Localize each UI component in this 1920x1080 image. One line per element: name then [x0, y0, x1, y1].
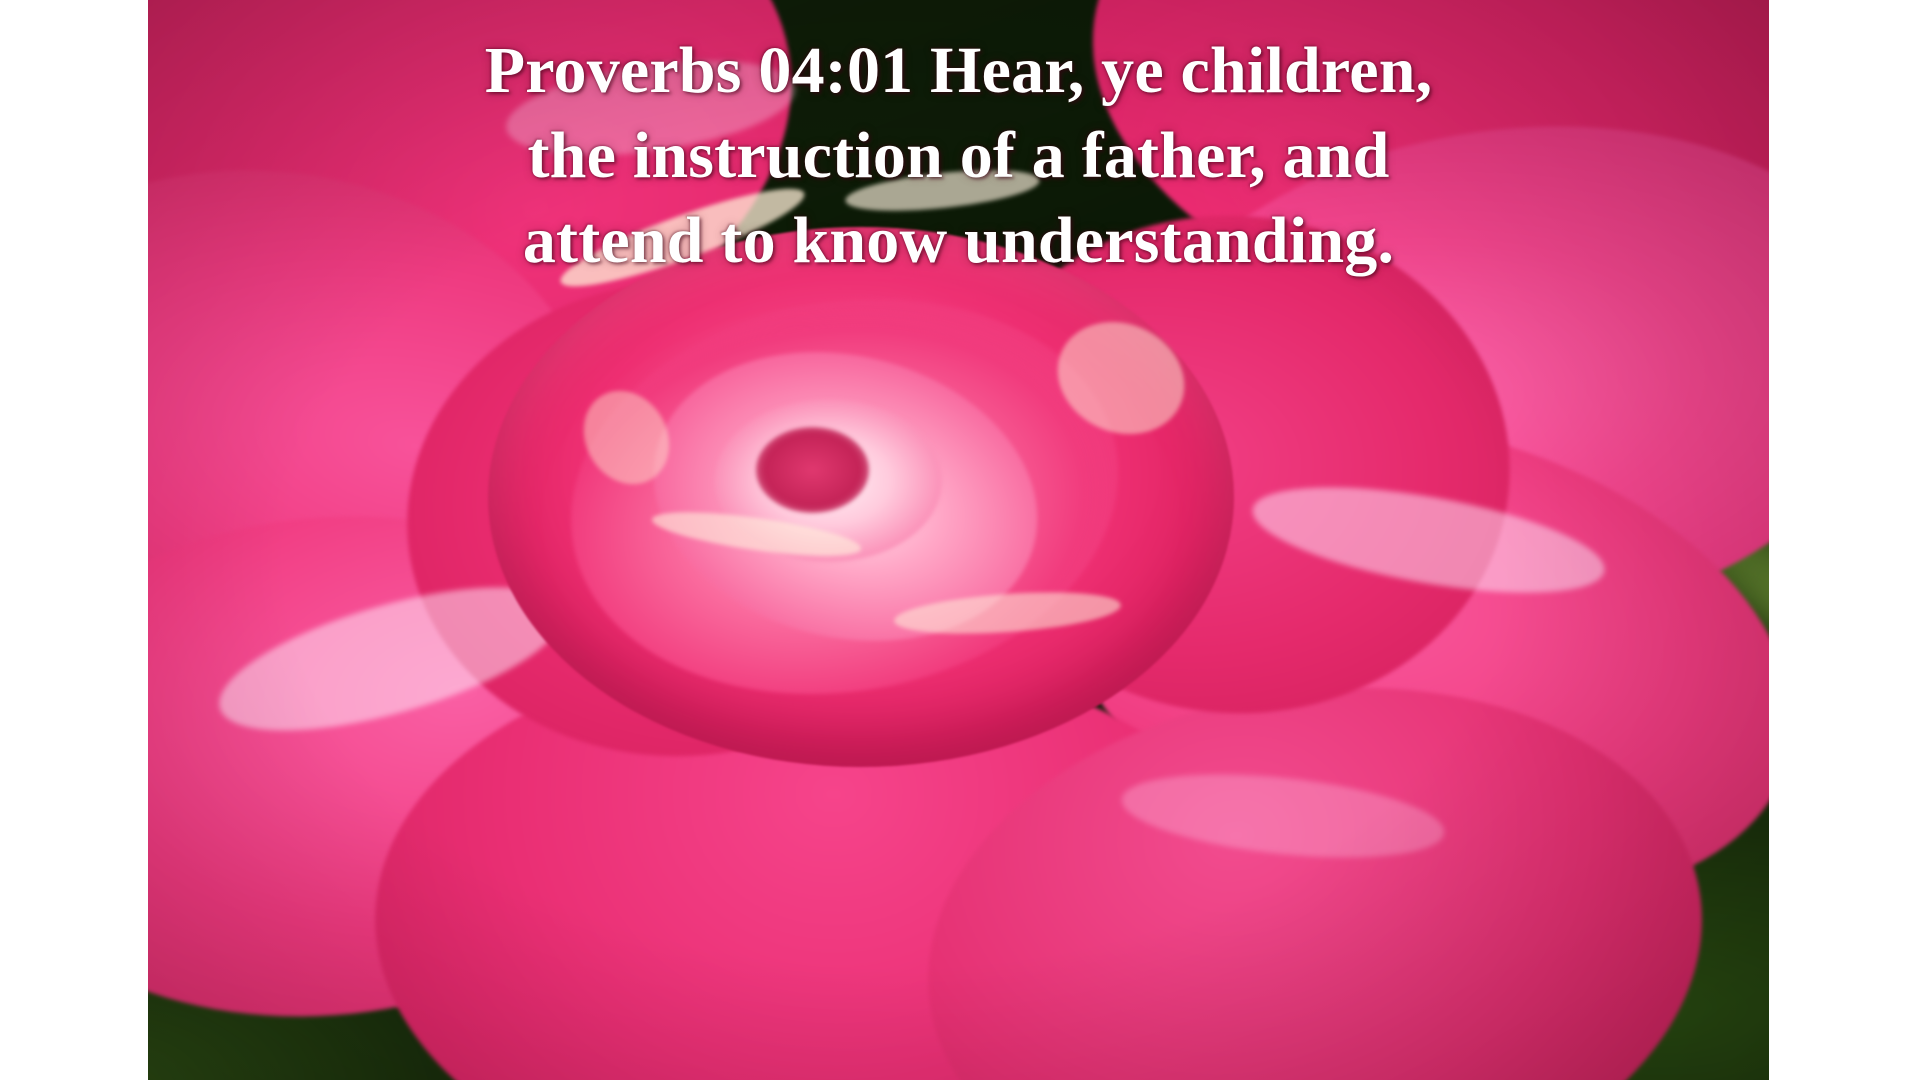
- letterbox-right: [1769, 0, 1920, 1080]
- verse-line-2: the instruction of a father, and: [188, 113, 1729, 198]
- letterbox-left: [0, 0, 148, 1080]
- rose-core: [756, 427, 869, 513]
- verse-line-1: Proverbs 04:01 Hear, ye children,: [188, 28, 1729, 113]
- verse-line-3: attend to know understanding.: [188, 198, 1729, 283]
- verse-text-overlay: Proverbs 04:01 Hear, ye children, the in…: [148, 28, 1769, 283]
- image-canvas: Proverbs 04:01 Hear, ye children, the in…: [0, 0, 1920, 1080]
